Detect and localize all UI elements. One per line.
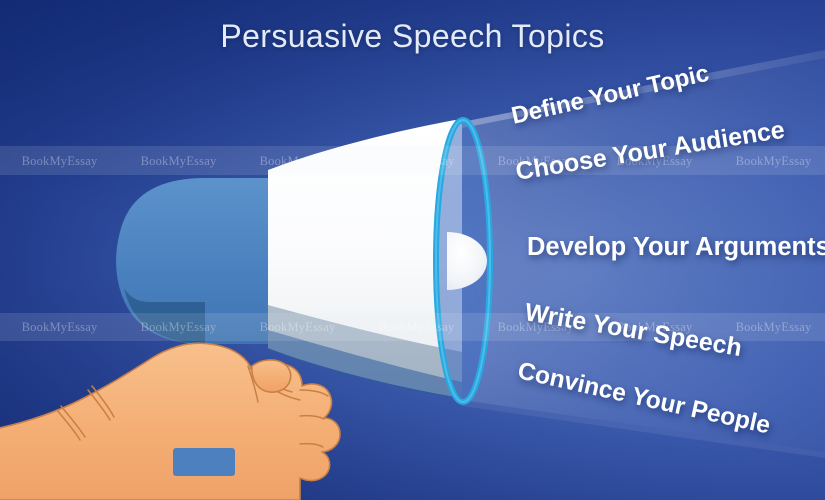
page-title: Persuasive Speech Topics: [0, 18, 825, 55]
speech-step-3: Develop Your Arguments: [527, 233, 825, 262]
poster-canvas: BookMyEssay BookMyEssay BookMyEssay Book…: [0, 0, 825, 500]
megaphone-handle-grip: [173, 448, 235, 476]
